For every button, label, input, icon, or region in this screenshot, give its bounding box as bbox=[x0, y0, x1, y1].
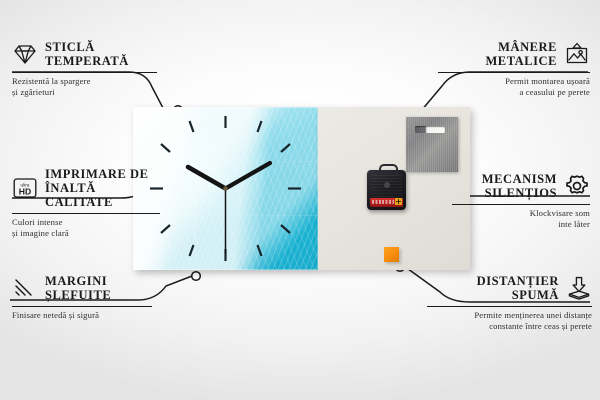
feature-foam-spacer: DISTANȚIERSPUMĂ Permite menținerea unei … bbox=[427, 274, 592, 332]
feature-rule bbox=[427, 306, 592, 307]
feature-title-line2: TEMPERATĂ bbox=[45, 54, 129, 68]
feature-high-quality-print: ultra HD IMPRIMARE DEÎNALTĂ CALITATE Cul… bbox=[12, 167, 160, 239]
quartz-movement bbox=[367, 170, 406, 210]
feature-title-line2: ȘLEFUITE bbox=[45, 288, 111, 302]
feature-subtitle-line2: și zgârieturi bbox=[12, 87, 55, 97]
diagonal-lines-icon bbox=[12, 275, 38, 301]
movement-hanging-loop bbox=[379, 164, 398, 175]
feature-tempered-glass: STICLĂTEMPERATĂ Rezistentă la spargere ș… bbox=[12, 40, 157, 98]
gear-icon bbox=[564, 173, 590, 199]
feature-polished-edges: MARGINIȘLEFUITE Finisare netedă și sigur… bbox=[12, 274, 152, 321]
feature-subtitle-line1: Culori intense bbox=[12, 217, 63, 227]
feature-title-line1: MARGINI bbox=[45, 274, 107, 288]
clock-back-panel bbox=[318, 107, 470, 270]
hd-badge-main-text: HD bbox=[19, 186, 31, 196]
battery bbox=[370, 198, 403, 207]
feature-silent-mechanism: MECANISMSILENȚIOS Klockvisare som inte l… bbox=[452, 172, 590, 230]
orange-foam-spacer bbox=[384, 247, 399, 262]
movement-shaft bbox=[384, 182, 390, 188]
feature-title-line1: STICLĂ bbox=[45, 40, 95, 54]
feature-subtitle-line2: constante între ceas și perete bbox=[489, 321, 592, 331]
feature-subtitle-line1: Permite menținerea unei distanțe bbox=[474, 310, 592, 320]
feature-subtitle-line2: a ceasului pe perete bbox=[519, 87, 590, 97]
feature-subtitle-line1: Rezistentă la spargere bbox=[12, 76, 91, 86]
feature-rule bbox=[12, 306, 152, 307]
clock-edge bbox=[133, 107, 318, 270]
feature-rule bbox=[12, 72, 157, 73]
feature-title-line1: MECANISM bbox=[482, 172, 557, 186]
leader-endpoint-polished-edges bbox=[192, 272, 201, 281]
picture-frame-hanging-icon bbox=[564, 41, 590, 67]
feature-title-line2: ÎNALTĂ CALITATE bbox=[45, 181, 113, 209]
ultra-hd-badge-icon: ultra HD bbox=[12, 175, 38, 201]
battery-label bbox=[372, 200, 394, 204]
feature-metal-handles: MÂNEREMETALICE Permit montarea ușoară a … bbox=[438, 40, 590, 98]
feature-subtitle-line1: Finisare netedă și sigură bbox=[12, 310, 99, 320]
infographic-canvas: STICLĂTEMPERATĂ Rezistentă la spargere ș… bbox=[0, 0, 600, 400]
feature-subtitle-line2: inte låter bbox=[558, 219, 590, 229]
feature-rule bbox=[438, 72, 590, 73]
feature-subtitle-line1: Permit montarea ușoară bbox=[505, 76, 590, 86]
metal-hanger-plate bbox=[406, 117, 458, 172]
feature-rule bbox=[12, 213, 160, 214]
feature-title-line1: MÂNERE bbox=[498, 40, 557, 54]
arrow-onto-pad-icon bbox=[566, 275, 592, 301]
feature-title-line1: IMPRIMARE DE bbox=[45, 167, 148, 181]
feature-subtitle-line1: Klockvisare som bbox=[530, 208, 590, 218]
feature-title-line1: DISTANȚIER bbox=[477, 274, 559, 288]
glass-wall-clock bbox=[133, 107, 318, 270]
feature-title-line2: SPUMĂ bbox=[512, 288, 559, 302]
diamond-icon bbox=[12, 41, 38, 67]
feature-title-line2: METALICE bbox=[485, 54, 557, 68]
feature-subtitle-line2: și imagine clară bbox=[12, 228, 69, 238]
feature-rule bbox=[452, 204, 590, 205]
hanger-keyhole-slot bbox=[415, 126, 445, 133]
battery-plus-terminal bbox=[395, 198, 402, 205]
feature-title-line2: SILENȚIOS bbox=[485, 186, 557, 200]
